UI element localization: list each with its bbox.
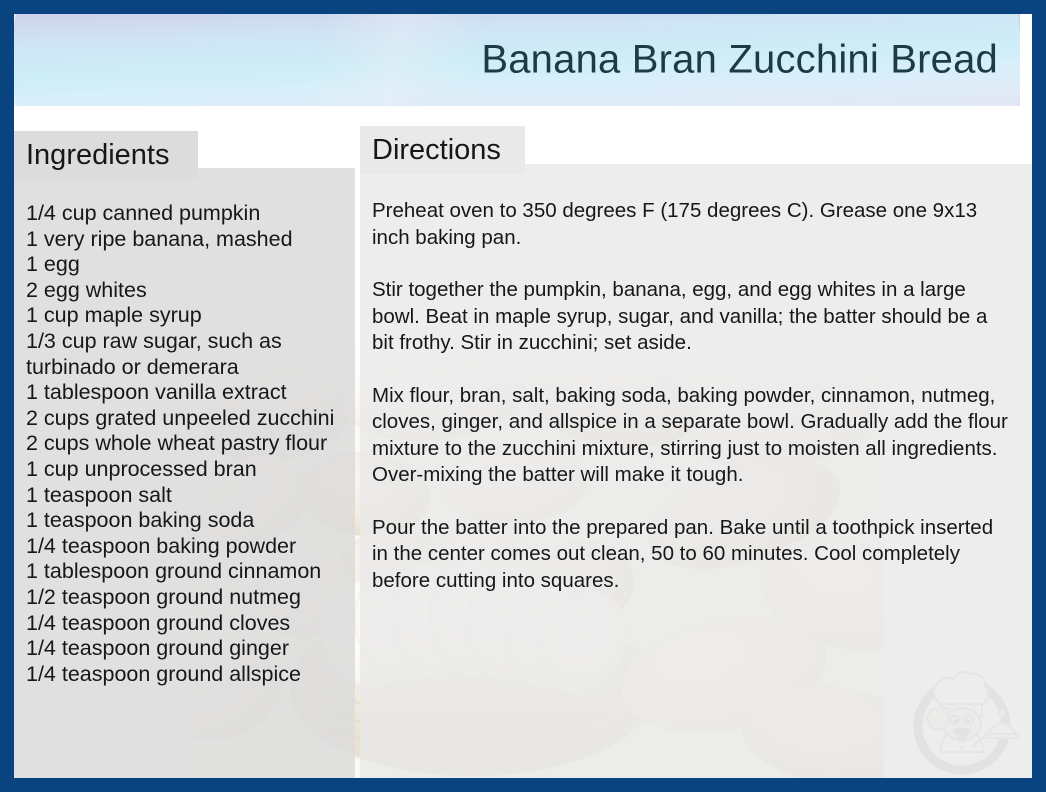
ingredient-item: 1/4 teaspoon ground cloves	[26, 611, 355, 637]
ingredient-item: 1/3 cup raw sugar, such as	[26, 329, 355, 355]
ingredient-item: 1 egg	[26, 252, 355, 278]
ingredient-item: 1 tablespoon ground cinnamon	[26, 559, 355, 585]
ingredients-heading-label: Ingredients	[26, 139, 170, 172]
ingredient-item: 1 teaspoon salt	[26, 483, 355, 509]
ingredient-item: 1 cup unprocessed bran	[26, 457, 355, 483]
ingredient-item: 1/4 teaspoon ground ginger	[26, 636, 355, 662]
ingredient-item: 1/4 teaspoon baking powder	[26, 534, 355, 560]
ingredient-item: 1/4 teaspoon ground allspice	[26, 662, 355, 688]
ingredients-heading: Ingredients	[14, 131, 198, 179]
ingredient-item: 1 very ripe banana, mashed	[26, 227, 355, 253]
ingredient-item: 1/4 cup canned pumpkin	[26, 201, 355, 227]
directions-heading: Directions	[360, 126, 525, 174]
ingredient-item: 1 tablespoon vanilla extract	[26, 380, 355, 406]
ingredients-list: 1/4 cup canned pumpkin1 very ripe banana…	[26, 201, 355, 687]
ingredient-item: 1/2 teaspoon ground nutmeg	[26, 585, 355, 611]
ingredient-item: 2 egg whites	[26, 278, 355, 304]
ingredients-panel: 1/4 cup canned pumpkin1 very ripe banana…	[14, 168, 355, 778]
ingredient-item: 2 cups grated unpeeled zucchini	[26, 406, 355, 432]
directions-panel: Preheat oven to 350 degrees F (175 degre…	[360, 164, 1032, 778]
directions-steps: Preheat oven to 350 degrees F (175 degre…	[372, 198, 1014, 594]
direction-step: Pour the batter into the prepared pan. B…	[372, 515, 1014, 595]
recipe-card: Banana Bran Zucchini Bread	[14, 14, 1032, 778]
direction-step: Preheat oven to 350 degrees F (175 degre…	[372, 198, 1014, 251]
ingredient-item: 1 teaspoon baking soda	[26, 508, 355, 534]
direction-step: Mix flour, bran, salt, baking soda, baki…	[372, 383, 1014, 489]
title-banner: Banana Bran Zucchini Bread	[14, 14, 1020, 106]
ingredient-item: turbinado or demerara	[26, 355, 355, 381]
page-title: Banana Bran Zucchini Bread	[481, 38, 998, 83]
ingredient-item: 1 cup maple syrup	[26, 303, 355, 329]
direction-step: Stir together the pumpkin, banana, egg, …	[372, 277, 1014, 357]
directions-heading-label: Directions	[372, 134, 501, 167]
ingredient-item: 2 cups whole wheat pastry flour	[26, 431, 355, 457]
